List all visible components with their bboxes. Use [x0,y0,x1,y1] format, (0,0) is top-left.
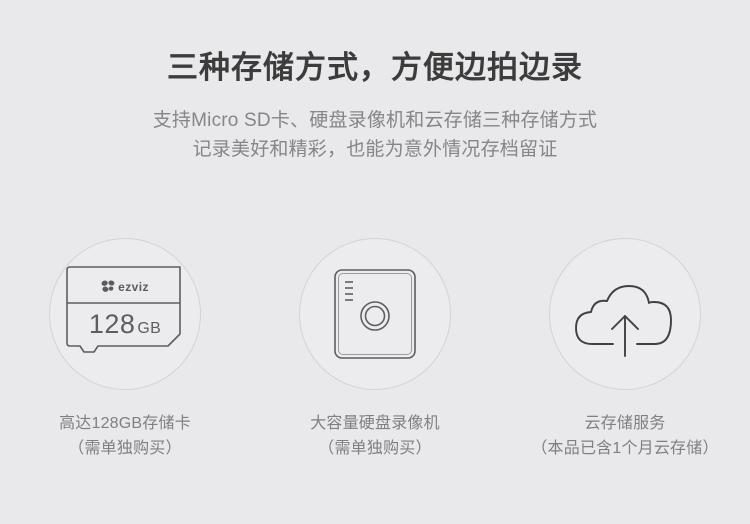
storage-card-sd: ezviz 128 GB 高达128GB存储卡 （需单独购买） [0,238,250,461]
caption-dvr-line-2: （需单独购买） [310,436,440,461]
ezviz-mark-icon [101,280,116,293]
dvr-recorder-icon [333,268,417,360]
icon-circle-sd: ezviz 128 GB [49,238,201,390]
storage-card-list: ezviz 128 GB 高达128GB存储卡 （需单独购买） [0,238,750,461]
subtitle-line-2: 记录美好和精彩，也能为意外情况存档留证 [0,135,750,164]
storage-options-section: 三种存储方式，方便边拍边录 支持Micro SD卡、硬盘录像机和云存储三种存储方… [0,0,750,524]
storage-card-dvr: 大容量硬盘录像机 （需单独购买） [250,238,500,461]
subtitle-line-1: 支持Micro SD卡、硬盘录像机和云存储三种存储方式 [0,106,750,135]
caption-sd-line-1: 高达128GB存储卡 [59,411,191,436]
micro-sd-card-icon: ezviz 128 GB [66,266,184,362]
icon-circle-dvr [299,238,451,390]
caption-cloud-line-1: 云存储服务 [531,411,718,436]
caption-cloud-line-2: （本品已含1个月云存储） [531,436,718,461]
icon-circle-cloud [549,238,701,390]
caption-sd-line-2: （需单独购买） [59,436,191,461]
sd-capacity-number: 128 [89,311,136,338]
caption-dvr-line-1: 大容量硬盘录像机 [310,411,440,436]
caption-sd: 高达128GB存储卡 （需单独购买） [59,411,191,461]
cloud-upload-icon [570,268,680,360]
ezviz-wordmark: ezviz [118,281,149,293]
caption-cloud: 云存储服务 （本品已含1个月云存储） [531,411,718,461]
sd-capacity: 128 GB [66,311,184,338]
ezviz-logo: ezviz [66,280,184,293]
page-title: 三种存储方式，方便边拍边录 [0,47,750,89]
sd-capacity-unit: GB [137,321,161,337]
caption-dvr: 大容量硬盘录像机 （需单独购买） [310,411,440,461]
storage-card-cloud: 云存储服务 （本品已含1个月云存储） [500,238,750,461]
subtitle: 支持Micro SD卡、硬盘录像机和云存储三种存储方式 记录美好和精彩，也能为意… [0,106,750,164]
header: 三种存储方式，方便边拍边录 支持Micro SD卡、硬盘录像机和云存储三种存储方… [0,47,750,164]
